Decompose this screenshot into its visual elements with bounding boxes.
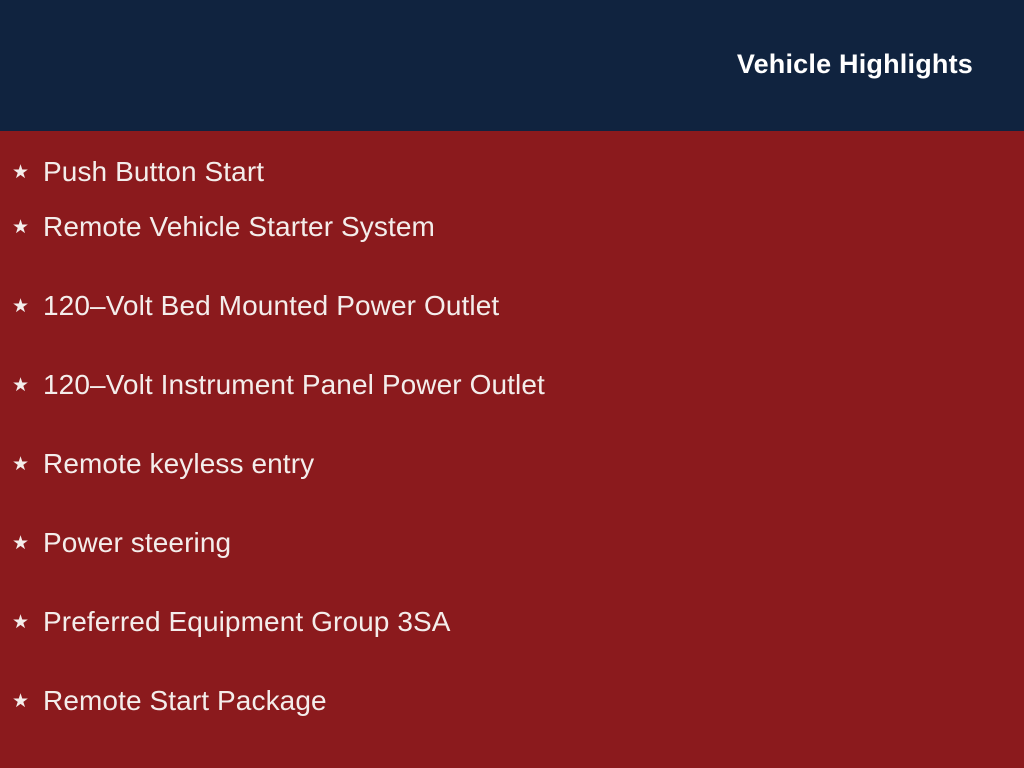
- star-bullet-icon: ★: [12, 297, 43, 316]
- list-item: ★ 120–Volt Bed Mounted Power Outlet: [0, 289, 1024, 368]
- vehicle-highlights-list: ★ Push Button Start ★ Remote Vehicle Sta…: [0, 131, 1024, 763]
- page-title: Vehicle Highlights: [737, 48, 973, 80]
- highlight-label: Preferred Equipment Group 3SA: [43, 605, 451, 639]
- list-item: ★ 120–Volt Instrument Panel Power Outlet: [0, 368, 1024, 447]
- vehicle-highlights-slide: Vehicle Highlights ★ Push Button Start ★…: [0, 0, 1024, 768]
- list-item: ★ Power steering: [0, 526, 1024, 605]
- highlight-label: Remote Start Package: [43, 684, 327, 718]
- highlight-label: Remote Vehicle Starter System: [43, 210, 435, 244]
- highlight-label: Push Button Start: [43, 155, 264, 189]
- list-item: ★ Remote keyless entry: [0, 447, 1024, 526]
- list-item: ★ Preferred Equipment Group 3SA: [0, 605, 1024, 684]
- list-item: ★ Push Button Start: [0, 131, 1024, 210]
- star-bullet-icon: ★: [12, 613, 43, 632]
- highlight-label: Remote keyless entry: [43, 447, 314, 481]
- star-bullet-icon: ★: [12, 534, 43, 553]
- star-bullet-icon: ★: [12, 376, 43, 395]
- star-bullet-icon: ★: [12, 218, 43, 237]
- list-item: ★ Remote Start Package: [0, 684, 1024, 763]
- star-bullet-icon: ★: [12, 455, 43, 474]
- star-bullet-icon: ★: [12, 163, 43, 182]
- highlight-label: 120–Volt Instrument Panel Power Outlet: [43, 368, 545, 402]
- list-item: ★ Remote Vehicle Starter System: [0, 210, 1024, 289]
- highlight-label: Power steering: [43, 526, 231, 560]
- header-banner: Vehicle Highlights: [0, 0, 1024, 131]
- highlight-label: 120–Volt Bed Mounted Power Outlet: [43, 289, 499, 323]
- star-bullet-icon: ★: [12, 692, 43, 711]
